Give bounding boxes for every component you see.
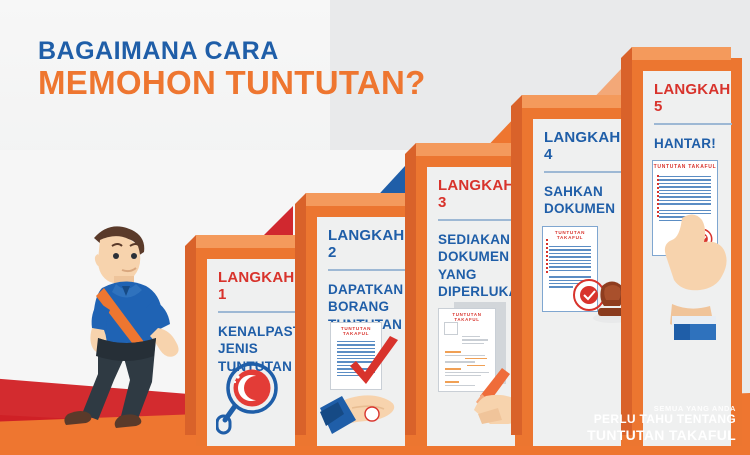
page-title: BAGAIMANA CARA MEMOHON TUNTUTAN? bbox=[38, 38, 426, 101]
step-1-number: LANGKAH 1 bbox=[218, 270, 294, 303]
step-2-divider bbox=[328, 269, 406, 271]
step-2-top-bevel bbox=[295, 193, 405, 206]
step-2-number: LANGKAH 2 bbox=[328, 228, 404, 261]
step-5-panel: LANGKAH 5 HANTAR! TUNTUTAN TAKAFUL bbox=[632, 58, 742, 446]
hand-submitting-icon bbox=[656, 212, 732, 340]
footer-tagline: SEMUA YANG ANDA PERLU TAHU TENTANG TUNTU… bbox=[587, 404, 736, 443]
step-4-description: SAHKAN DOKUMEN bbox=[544, 183, 620, 218]
step-1-divider bbox=[218, 311, 296, 313]
step-3-divider bbox=[438, 219, 516, 221]
step-4-divider bbox=[544, 171, 622, 173]
step-4-document-title: TUNTUTAN TAKAFUL bbox=[543, 230, 597, 240]
step-5-text: LANGKAH 5 HANTAR! bbox=[654, 82, 730, 152]
step-4-side-bevel bbox=[511, 95, 522, 435]
step-2-document-title: TUNTUTAN TAKAFUL bbox=[331, 326, 381, 336]
document-stamp-icon: TUNTUTAN TAKAFUL bbox=[538, 226, 630, 336]
document-hand-submit-icon: TUNTUTAN TAKAFUL bbox=[642, 160, 738, 340]
step-card-1[interactable]: LANGKAH 1 KENALPASTI JENIS TUNTUTAN bbox=[196, 246, 306, 446]
step-card-3[interactable]: LANGKAH 3 SEDIAKAN DOKUMEN YANG DIPERLUK… bbox=[416, 154, 526, 446]
step-2-panel: LANGKAH 2 DAPATKAN BORANG TUNTUTAN TUNTU… bbox=[306, 204, 416, 446]
form-pen-icon: TUNTUTAN TAKAFUL bbox=[430, 302, 522, 424]
title-line-1: BAGAIMANA CARA bbox=[38, 38, 426, 64]
document-check-hand-icon: TUNTUTAN TAKAFUL bbox=[324, 322, 410, 434]
walking-man-illustration bbox=[58, 218, 198, 430]
magnifier-icon bbox=[216, 358, 286, 436]
infographic-canvas: BAGAIMANA CARA MEMOHON TUNTUTAN? LANGKAH… bbox=[0, 0, 750, 455]
step-5-number: LANGKAH 5 bbox=[654, 82, 730, 115]
step-5-divider bbox=[654, 123, 732, 125]
step-2-side-bevel bbox=[295, 193, 306, 435]
step-3-number: LANGKAH 3 bbox=[438, 178, 514, 211]
step-5-side-bevel bbox=[621, 47, 632, 435]
step-3-side-bevel bbox=[405, 143, 416, 435]
step-5-top-bevel bbox=[621, 47, 731, 60]
step-5-document-title: TUNTUTAN TAKAFUL bbox=[653, 164, 717, 170]
step-3-panel: LANGKAH 3 SEDIAKAN DOKUMEN YANG DIPERLUK… bbox=[416, 154, 526, 446]
footer-line-3: TUNTUTAN TAKAFUL bbox=[587, 427, 736, 443]
step-4-panel: LANGKAH 4 SAHKAN DOKUMEN TUNTUTAN TAKAFU… bbox=[522, 106, 632, 446]
step-3-form-title: TUNTUTAN TAKAFUL bbox=[439, 312, 495, 322]
step-4-top-bevel bbox=[511, 95, 621, 108]
step-4-number: LANGKAH 4 bbox=[544, 130, 620, 163]
step-1-panel: LANGKAH 1 KENALPASTI JENIS TUNTUTAN bbox=[196, 246, 306, 446]
step-4-text: LANGKAH 4 SAHKAN DOKUMEN bbox=[544, 130, 620, 218]
step-card-2[interactable]: LANGKAH 2 DAPATKAN BORANG TUNTUTAN TUNTU… bbox=[306, 204, 416, 446]
hand-holding-icon bbox=[320, 378, 416, 436]
step-5-description: HANTAR! bbox=[654, 135, 730, 152]
step-1-top-bevel bbox=[185, 235, 295, 248]
step-3-description: SEDIAKAN DOKUMEN YANG DIPERLUKAN bbox=[438, 231, 514, 300]
step-card-4[interactable]: LANGKAH 4 SAHKAN DOKUMEN TUNTUTAN TAKAFU… bbox=[522, 106, 632, 446]
step-2-text: LANGKAH 2 DAPATKAN BORANG TUNTUTAN bbox=[328, 228, 404, 333]
step-card-5[interactable]: LANGKAH 5 HANTAR! TUNTUTAN TAKAFUL bbox=[632, 58, 742, 446]
title-line-2: MEMOHON TUNTUTAN? bbox=[38, 66, 426, 101]
footer-line-2: PERLU TAHU TENTANG bbox=[587, 413, 736, 427]
step-3-text: LANGKAH 3 SEDIAKAN DOKUMEN YANG DIPERLUK… bbox=[438, 178, 514, 300]
footer-line-1: SEMUA YANG ANDA bbox=[587, 404, 736, 413]
step-3-top-bevel bbox=[405, 143, 515, 156]
